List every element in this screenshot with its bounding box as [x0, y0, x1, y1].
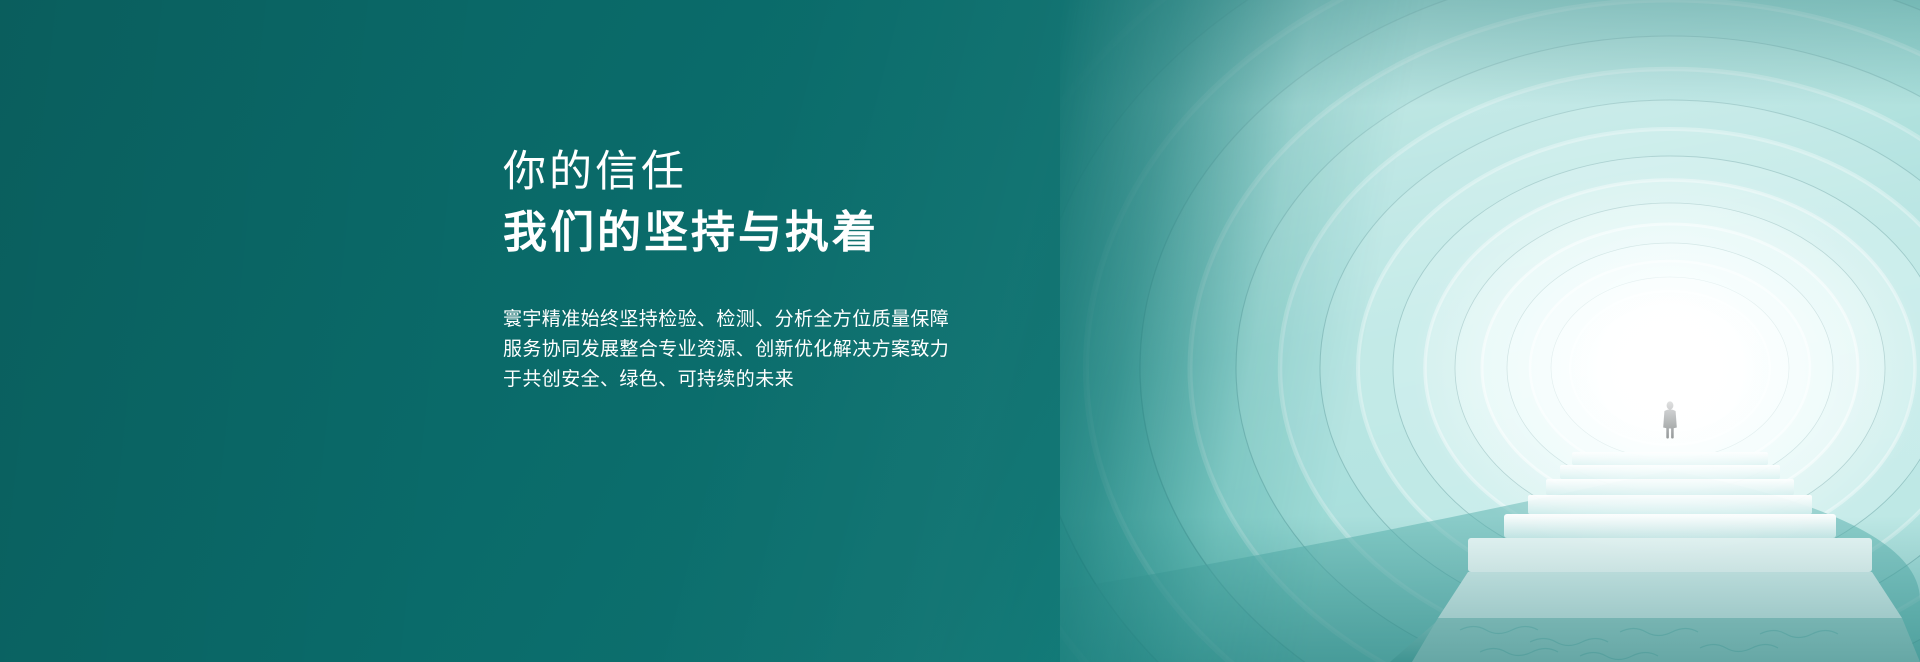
- headline-bold: 我们的坚持与执着: [503, 206, 1023, 261]
- description-line-3: 于共创安全、绿色、可持续的未来: [503, 365, 1003, 395]
- hero-banner: 你的信任 我们的坚持与执着 寰宇精准始终坚持检验、检测、分析全方位质量保障 服务…: [0, 0, 1920, 662]
- headline-light: 你的信任: [503, 146, 1023, 198]
- vanishing-point-glow: [1060, 0, 1920, 662]
- tunnel-rings-graphic: [1060, 0, 1920, 662]
- tunnel-perspective-image: [1060, 0, 1920, 662]
- description-line-1: 寰宇精准始终坚持检验、检测、分析全方位质量保障: [503, 305, 1003, 335]
- description-line-2: 服务协同发展整合专业资源、创新优化解决方案致力: [503, 335, 1003, 365]
- hero-copy-block: 你的信任 我们的坚持与执着 寰宇精准始终坚持检验、检测、分析全方位质量保障 服务…: [503, 146, 1023, 395]
- hero-description: 寰宇精准始终坚持检验、检测、分析全方位质量保障 服务协同发展整合专业资源、创新优…: [503, 305, 1003, 395]
